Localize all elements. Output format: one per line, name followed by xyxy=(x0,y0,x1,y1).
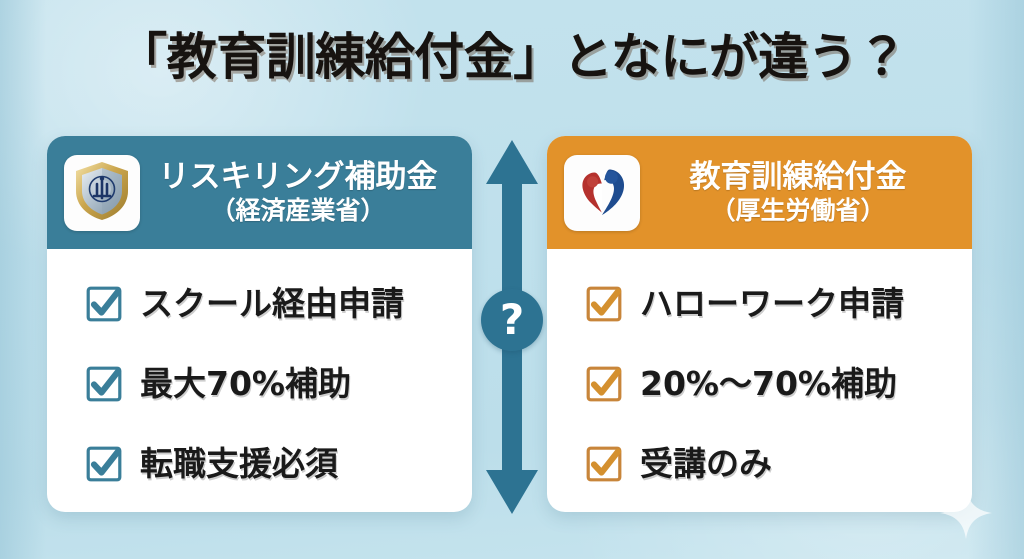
check-square-icon xyxy=(85,285,123,323)
list-item: 受講のみ xyxy=(585,437,972,491)
page-title: 「教育訓練給付金」となにが違う？ xyxy=(0,26,1024,88)
card-right-logo-tile xyxy=(564,155,640,231)
list-item: ハローワーク申請 xyxy=(585,277,972,331)
list-item: 最大70%補助 xyxy=(85,357,472,411)
check-square-icon xyxy=(85,445,123,483)
question-mark-label: ? xyxy=(500,299,524,341)
list-item: スクール経由申請 xyxy=(85,277,472,331)
comparison-card-right: 教育訓練給付金 （厚生労働省） ハローワーク申請 xyxy=(547,136,972,512)
slide-canvas: 「教育訓練給付金」となにが違う？ xyxy=(0,0,1024,559)
card-left-title-block: リスキリング補助金 （経済産業省） xyxy=(140,159,458,226)
check-square-icon xyxy=(85,365,123,403)
comparison-card-left: リスキリング補助金 （経済産業省） スクール経由申請 xyxy=(47,136,472,512)
list-item-label: 最大70%補助 xyxy=(140,364,351,404)
card-left-subtitle: （経済産業省） xyxy=(142,195,454,226)
card-left-logo-tile xyxy=(64,155,140,231)
card-right-header: 教育訓練給付金 （厚生労働省） xyxy=(547,136,972,249)
list-item: 転職支援必須 xyxy=(85,437,472,491)
list-item-label: 20%〜70%補助 xyxy=(640,364,897,404)
card-right-title-block: 教育訓練給付金 （厚生労働省） xyxy=(640,159,958,226)
check-square-icon xyxy=(585,365,623,403)
list-item-label: スクール経由申請 xyxy=(140,284,404,324)
mhlw-people-heart-icon xyxy=(572,162,632,224)
check-square-icon xyxy=(585,285,623,323)
card-right-title: 教育訓練給付金 xyxy=(642,159,954,195)
shield-badge-icon xyxy=(73,160,131,226)
list-item: 20%〜70%補助 xyxy=(585,357,972,411)
list-item-label: 受講のみ xyxy=(640,444,772,484)
check-square-icon xyxy=(585,445,623,483)
card-left-body: スクール経由申請 最大70%補助 転職支援必 xyxy=(47,249,472,491)
card-left-title: リスキリング補助金 xyxy=(142,159,454,195)
question-mark-badge: ? xyxy=(481,289,543,351)
card-left-header: リスキリング補助金 （経済産業省） xyxy=(47,136,472,249)
list-item-label: ハローワーク申請 xyxy=(640,284,904,324)
card-right-subtitle: （厚生労働省） xyxy=(642,195,954,226)
list-item-label: 転職支援必須 xyxy=(140,444,338,484)
card-right-body: ハローワーク申請 20%〜70%補助 受講の xyxy=(547,249,972,491)
